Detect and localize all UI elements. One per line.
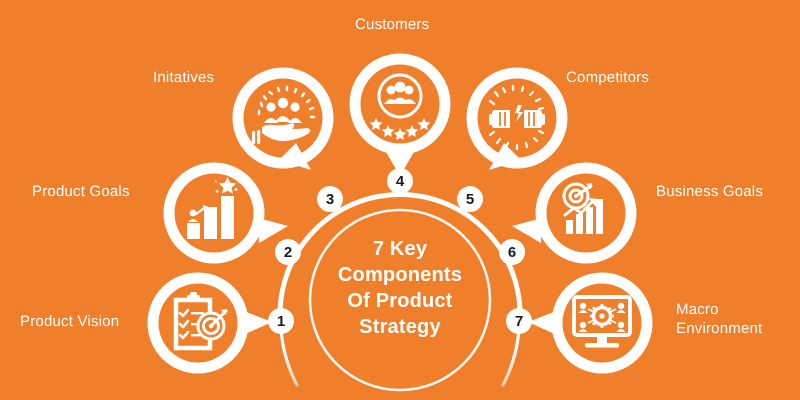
infographic-canvas: 7 Key Components Of Product Strategy 1 2… bbox=[0, 0, 800, 400]
growth-star-chart-icon bbox=[187, 177, 240, 239]
label-competitors: Competitors bbox=[566, 68, 649, 87]
label-business-goals: Business Goals bbox=[656, 182, 763, 201]
center-title-line-1: 7 Key bbox=[315, 236, 485, 262]
target-growth-chart-icon bbox=[564, 183, 603, 234]
bubble-1-product-vision[interactable] bbox=[153, 278, 272, 368]
badge-2[interactable]: 2 bbox=[275, 239, 301, 265]
bubble-2-product-goals[interactable] bbox=[169, 168, 288, 258]
badge-3[interactable]: 3 bbox=[317, 186, 343, 212]
competing-fists-icon bbox=[489, 86, 545, 149]
arc-tail-left bbox=[281, 330, 297, 385]
badge-1[interactable]: 1 bbox=[268, 308, 294, 334]
badge-6[interactable]: 6 bbox=[499, 239, 525, 265]
center-title-line-2: Components bbox=[315, 262, 485, 288]
badge-5[interactable]: 5 bbox=[457, 186, 483, 212]
arc-tail-right bbox=[503, 330, 519, 385]
bubble-7-macro-environment[interactable] bbox=[528, 278, 647, 368]
center-title-line-4: Strategy bbox=[315, 314, 485, 340]
customers-rating-stars-icon bbox=[370, 75, 431, 140]
hand-holding-team-icon bbox=[252, 87, 314, 144]
clipboard-target-icon bbox=[176, 292, 227, 348]
monitor-gear-network-icon bbox=[574, 297, 630, 348]
bubble-3-initatives[interactable] bbox=[238, 73, 328, 170]
bubble-5-competitors[interactable] bbox=[472, 73, 562, 170]
badge-7[interactable]: 7 bbox=[506, 308, 532, 334]
bubble-4-customers[interactable] bbox=[355, 59, 445, 176]
label-product-vision: Product Vision bbox=[20, 312, 119, 331]
badge-4[interactable]: 4 bbox=[387, 168, 413, 194]
center-title: 7 Key Components Of Product Strategy bbox=[315, 236, 485, 340]
label-macro-environment: Macro Environment bbox=[676, 300, 762, 338]
center-title-line-3: Of Product bbox=[315, 288, 485, 314]
bubble-6-business-goals[interactable] bbox=[512, 168, 631, 258]
label-product-goals: Product Goals bbox=[32, 182, 130, 201]
label-initatives: Initatives bbox=[153, 68, 214, 87]
label-customers: Customers bbox=[355, 15, 429, 34]
